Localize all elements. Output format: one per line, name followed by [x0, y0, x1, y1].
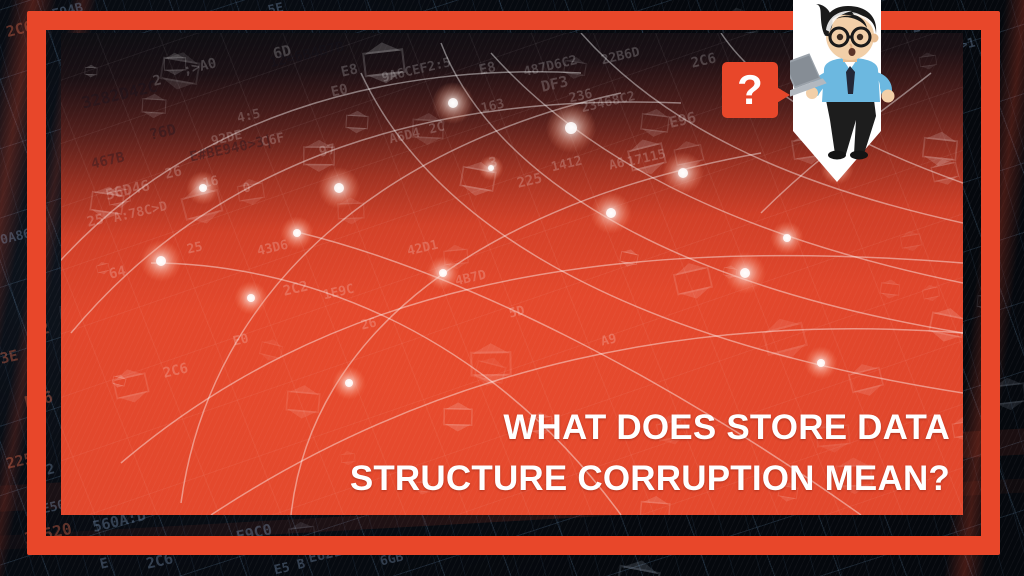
question-bubble-icon: ?: [722, 62, 778, 118]
slide-canvas: 2C6E94B5E2962C62060A86C225C23EF362252 23…: [0, 0, 1024, 576]
hexagon-decoration: [616, 565, 662, 576]
page-title-line-1: WHAT DOES STORE DATA: [350, 402, 950, 453]
mascot-man-with-laptop-icon: [790, 4, 922, 164]
page-title: WHAT DOES STORE DATA STRUCTURE CORRUPTIO…: [350, 402, 950, 504]
bubble-tail: [775, 86, 790, 104]
page-title-line-2: STRUCTURE CORRUPTION MEAN?: [350, 453, 950, 504]
question-mark-glyph: ?: [722, 62, 778, 118]
